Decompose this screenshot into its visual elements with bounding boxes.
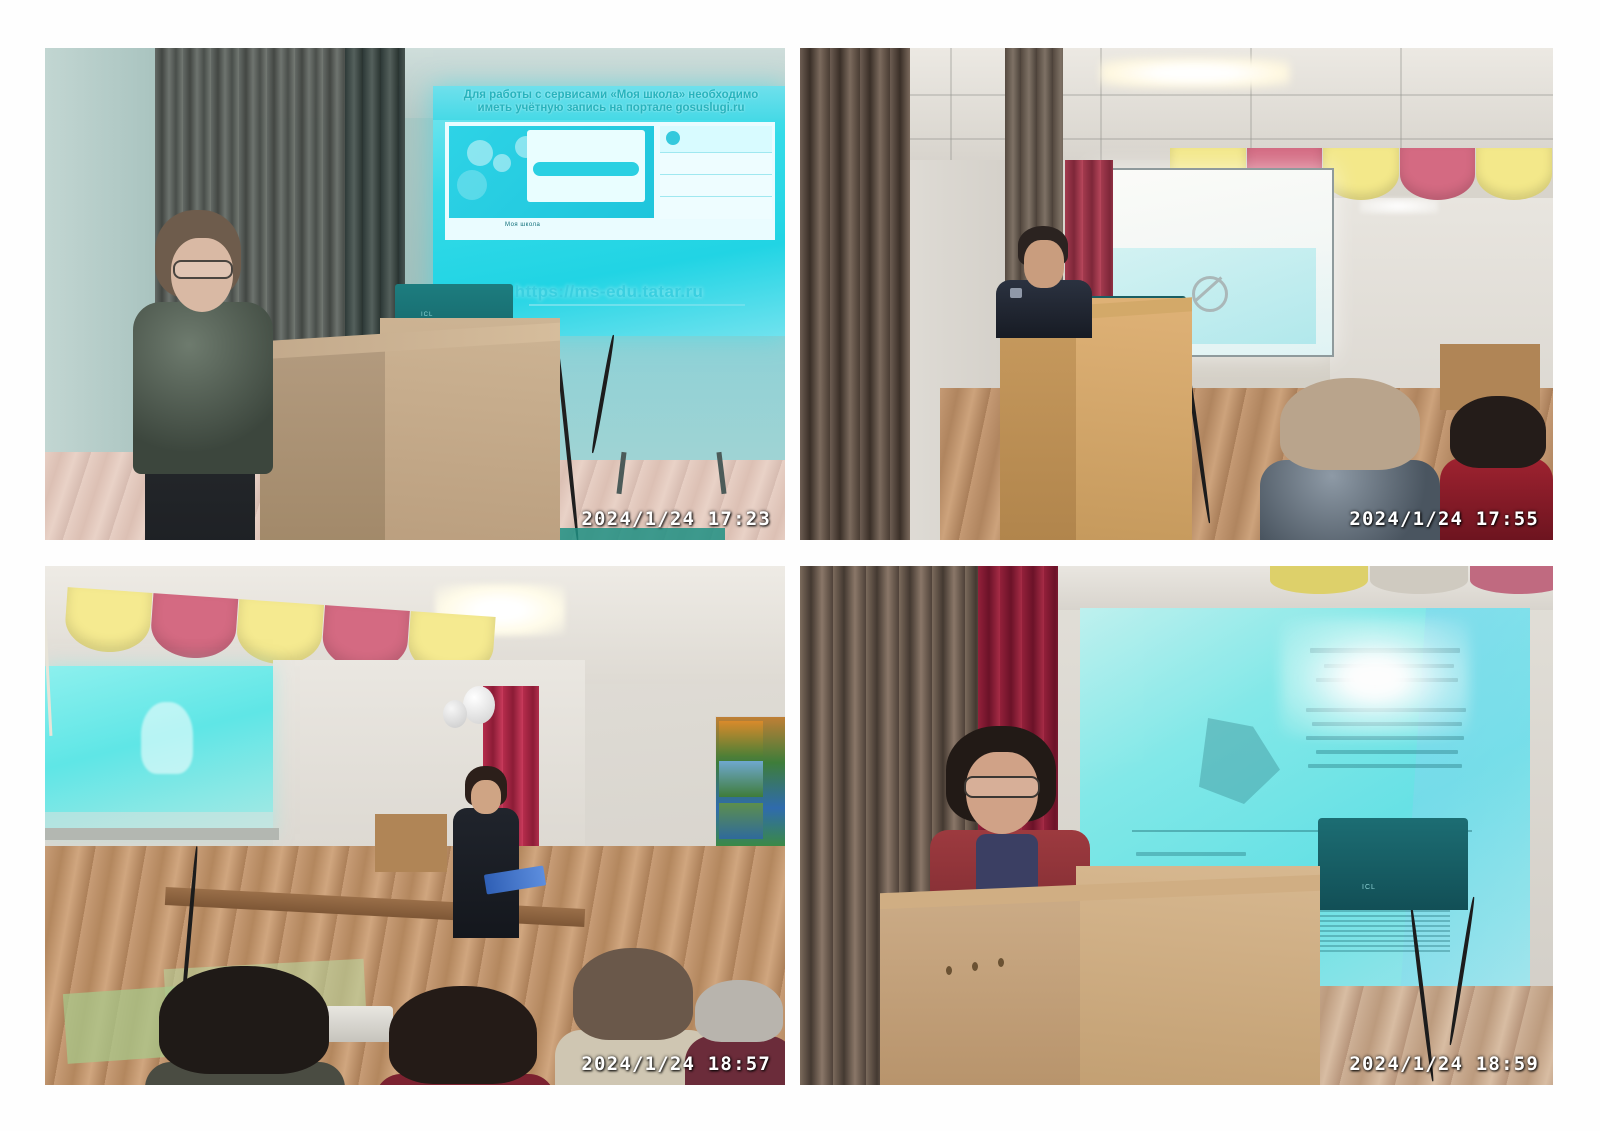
photo-timestamp: 2024/1/24 17:55 [1349, 508, 1539, 530]
speaker-person [445, 766, 525, 946]
window-curtain [800, 48, 910, 540]
audience-member [375, 986, 555, 1085]
laptop-brand-logo: ICL [1362, 884, 1376, 891]
eyeglasses-icon [964, 776, 1040, 798]
projector-glare [1280, 618, 1470, 738]
ceiling-light-far [1360, 198, 1438, 214]
slide-panel-right [660, 126, 772, 218]
eyeglasses-icon [173, 260, 233, 279]
photo-bottom-right[interactable]: ICL 2024/1/24 18:59 [800, 566, 1553, 1085]
photo-bottom-left[interactable]: 2024/1/24 18:57 [45, 566, 785, 1085]
side-desk [375, 814, 447, 872]
slide-url-underline [529, 304, 745, 306]
balloon [443, 700, 467, 728]
podium-holes [946, 966, 1026, 976]
photo-timestamp: 2024/1/24 17:23 [581, 508, 771, 530]
nature-poster [715, 716, 785, 848]
slide-figure [141, 702, 193, 774]
face [1024, 240, 1064, 288]
podium [880, 866, 1320, 1085]
projection-screen [45, 666, 273, 834]
screen-frame-bottom [45, 828, 279, 840]
prohibition-sign-icon [1192, 276, 1228, 312]
slide-title-line2: иметь учётную запись на портале gosuslug… [443, 102, 779, 116]
slide-login-button [533, 162, 639, 176]
decorative-swags [1270, 566, 1553, 594]
collage-page: Для работы с сервисами «Моя школа» необх… [0, 0, 1600, 1131]
laptop: ICL [1318, 818, 1468, 910]
ceiling-light [1100, 58, 1290, 88]
photo-3-scene [45, 566, 785, 1085]
photo-2-scene [800, 48, 1553, 540]
slide-illustration [1190, 718, 1280, 804]
podium [260, 318, 560, 540]
speaker-person [127, 210, 287, 540]
speaker-officer [996, 226, 1092, 336]
audience-member [145, 966, 345, 1085]
photo-top-left[interactable]: Для работы с сервисами «Моя школа» необх… [45, 48, 785, 540]
slide-brand-label: Моя школа [505, 222, 540, 228]
face [471, 780, 501, 814]
balloon [463, 686, 495, 724]
photo-top-right[interactable]: 2024/1/24 17:55 [800, 48, 1553, 540]
photo-timestamp: 2024/1/24 18:59 [1349, 1053, 1539, 1075]
photo-4-scene: ICL [800, 566, 1553, 1085]
uniform-badge [1010, 288, 1022, 298]
photo-1-scene: Для работы с сервисами «Моя школа» необх… [45, 48, 785, 540]
slide-body: Моя школа [445, 122, 775, 240]
photo-timestamp: 2024/1/24 18:57 [581, 1053, 771, 1075]
slide-title-line1: Для работы с сервисами «Моя школа» необх… [443, 89, 779, 103]
